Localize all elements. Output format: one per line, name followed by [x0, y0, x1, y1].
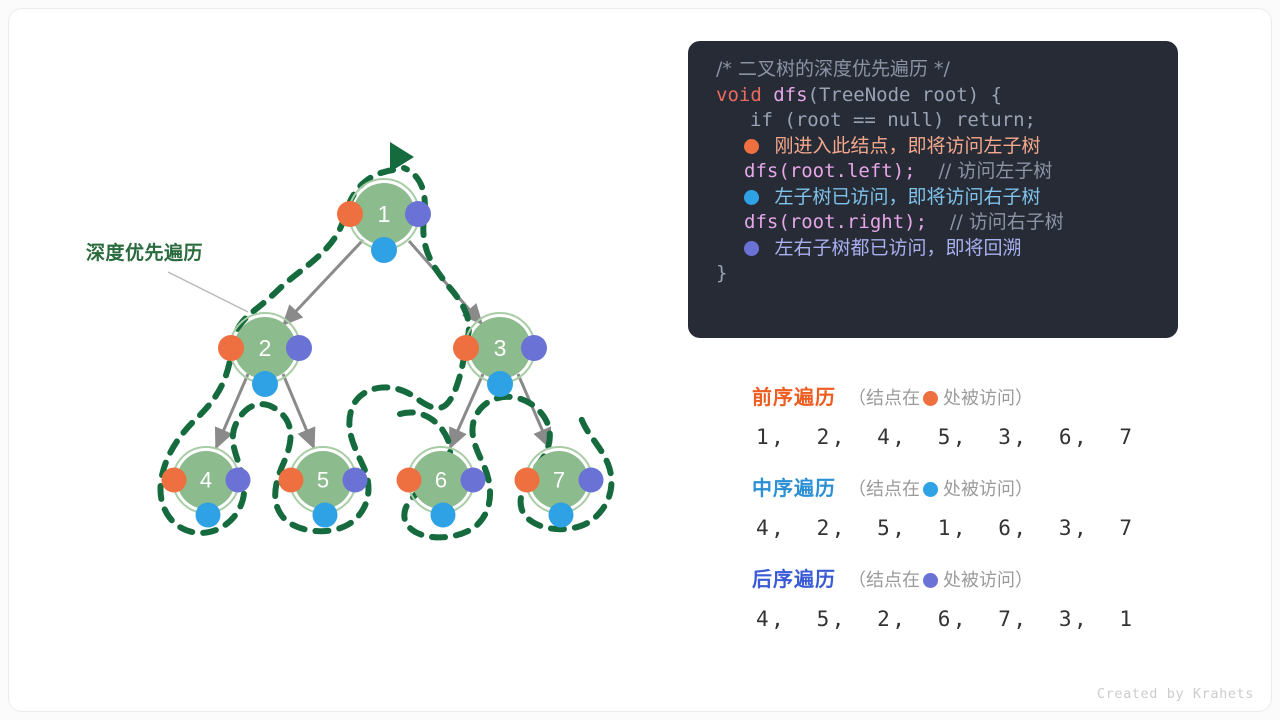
postorder-note-suffix: 处被访问） [943, 570, 1033, 591]
postorder-name: 后序遍历 [752, 567, 836, 591]
preorder-marker-dot-icon [923, 391, 938, 406]
tree-node-3-value: 3 [494, 335, 507, 361]
node-6-in-marker [431, 503, 456, 528]
code-line-signature: void dfs(TreeNode root) { [688, 83, 1178, 109]
node-7-in-marker [549, 503, 574, 528]
edge-3-7 [518, 374, 550, 448]
code-comment-header-text: /* 二叉树的深度优先遍历 */ [716, 58, 950, 80]
tree-node-7-value: 7 [553, 468, 565, 493]
preorder-note-suffix: 处被访问） [943, 388, 1033, 409]
tree-node-7[interactable]: 7 [515, 447, 604, 528]
blue-dot-icon [744, 190, 759, 205]
tree-node-2-value: 2 [259, 335, 272, 361]
traversal-results: 前序遍历（结点在处被访问） 1, 2, 4, 5, 3, 6, 7 中序遍历（结… [752, 380, 1172, 653]
code-line-comment-header: /* 二叉树的深度优先遍历 */ [688, 57, 1178, 83]
tree-node-6[interactable]: 6 [397, 447, 486, 528]
node-7-post-marker [579, 468, 604, 493]
code-note-purple-text: 左右子树都已访问，即将回溯 [774, 237, 1021, 259]
code-guard-text: if (root == null) return; [750, 109, 1036, 131]
tree-node-6-value: 6 [435, 468, 447, 493]
postorder-heading: 后序遍历（结点在处被访问） [752, 562, 1172, 596]
code-right-call-text: dfs(root.right); [744, 211, 927, 233]
orange-dot-icon [744, 139, 759, 154]
code-signature-rest: (TreeNode root) { [808, 84, 1002, 106]
node-4-in-marker [196, 503, 221, 528]
node-3-pre-marker [453, 335, 479, 361]
tree-node-1-value: 1 [378, 201, 391, 227]
inorder-note-suffix: 处被访问） [943, 479, 1033, 500]
binary-tree-diagram: 1 2 3 4 [0, 0, 680, 600]
preorder-sequence: 1, 2, 4, 5, 3, 6, 7 [752, 414, 1172, 460]
inorder-sequence: 4, 2, 5, 1, 6, 3, 7 [752, 505, 1172, 551]
postorder-marker-dot-icon [923, 573, 938, 588]
code-line-guard: if (root == null) return; [688, 108, 1178, 134]
postorder-note-prefix: （结点在 [848, 570, 920, 591]
node-6-pre-marker [397, 468, 422, 493]
node-1-post-marker [405, 201, 431, 227]
tree-node-4-value: 4 [200, 468, 212, 493]
tree-node-3[interactable]: 3 [453, 313, 547, 397]
inorder-name: 中序遍历 [752, 476, 836, 500]
dfs-annotation-label: 深度优先遍历 [86, 238, 203, 265]
node-2-pre-marker [218, 335, 244, 361]
purple-dot-icon [744, 241, 759, 256]
code-fn-dfs: dfs [773, 84, 807, 106]
label-leader-line [168, 272, 248, 312]
tree-node-5[interactable]: 5 [279, 447, 368, 528]
inorder-marker-dot-icon [923, 482, 938, 497]
code-keyword-void: void [716, 84, 762, 106]
result-group-preorder: 前序遍历（结点在处被访问） 1, 2, 4, 5, 3, 6, 7 [752, 380, 1172, 460]
tree-node-5-value: 5 [317, 468, 329, 493]
node-7-pre-marker [515, 468, 540, 493]
postorder-sequence: 4, 5, 2, 6, 7, 3, 1 [752, 596, 1172, 642]
inorder-heading: 中序遍历（结点在处被访问） [752, 471, 1172, 505]
preorder-name: 前序遍历 [752, 385, 836, 409]
figure-canvas: 1 2 3 4 [0, 0, 1280, 720]
node-5-pre-marker [279, 468, 304, 493]
node-1-pre-marker [337, 201, 363, 227]
code-line-right-call: dfs(root.right); // 访问右子树 [688, 210, 1178, 236]
node-5-in-marker [313, 503, 338, 528]
node-2-in-marker [252, 371, 278, 397]
code-line-note-purple: 左右子树都已访问，即将回溯 [688, 236, 1178, 262]
code-close-brace: } [716, 262, 727, 284]
node-3-in-marker [487, 371, 513, 397]
result-group-inorder: 中序遍历（结点在处被访问） 4, 2, 5, 1, 6, 3, 7 [752, 471, 1172, 551]
node-1-in-marker [371, 237, 397, 263]
node-6-post-marker [461, 468, 486, 493]
node-5-post-marker [343, 468, 368, 493]
node-2-post-marker [286, 335, 312, 361]
code-line-left-call: dfs(root.left); // 访问左子树 [688, 159, 1178, 185]
node-3-post-marker [521, 335, 547, 361]
edge-1-2 [283, 240, 363, 325]
code-block: /* 二叉树的深度优先遍历 */ void dfs(TreeNode root)… [688, 41, 1178, 338]
preorder-heading: 前序遍历（结点在处被访问） [752, 380, 1172, 414]
code-left-call-comment: // 访问左子树 [938, 160, 1052, 182]
code-line-note-blue: 左子树已访问，即将访问右子树 [688, 185, 1178, 211]
result-group-postorder: 后序遍历（结点在处被访问） 4, 5, 2, 6, 7, 3, 1 [752, 562, 1172, 642]
code-right-call-comment: // 访问右子树 [950, 211, 1064, 233]
code-note-blue-text: 左子树已访问，即将访问右子树 [774, 186, 1040, 208]
credit-text: Created by Krahets [1097, 686, 1254, 702]
code-left-call-text: dfs(root.left); [744, 160, 916, 182]
node-4-post-marker [226, 468, 251, 493]
edge-1-3 [409, 241, 482, 324]
inorder-note-prefix: （结点在 [848, 479, 920, 500]
code-line-note-orange: 刚进入此结点，即将访问左子树 [688, 134, 1178, 160]
preorder-note-prefix: （结点在 [848, 388, 920, 409]
tree-node-2[interactable]: 2 [218, 313, 312, 397]
code-note-orange-text: 刚进入此结点，即将访问左子树 [774, 135, 1040, 157]
code-line-close: } [688, 261, 1178, 287]
node-4-pre-marker [162, 468, 187, 493]
